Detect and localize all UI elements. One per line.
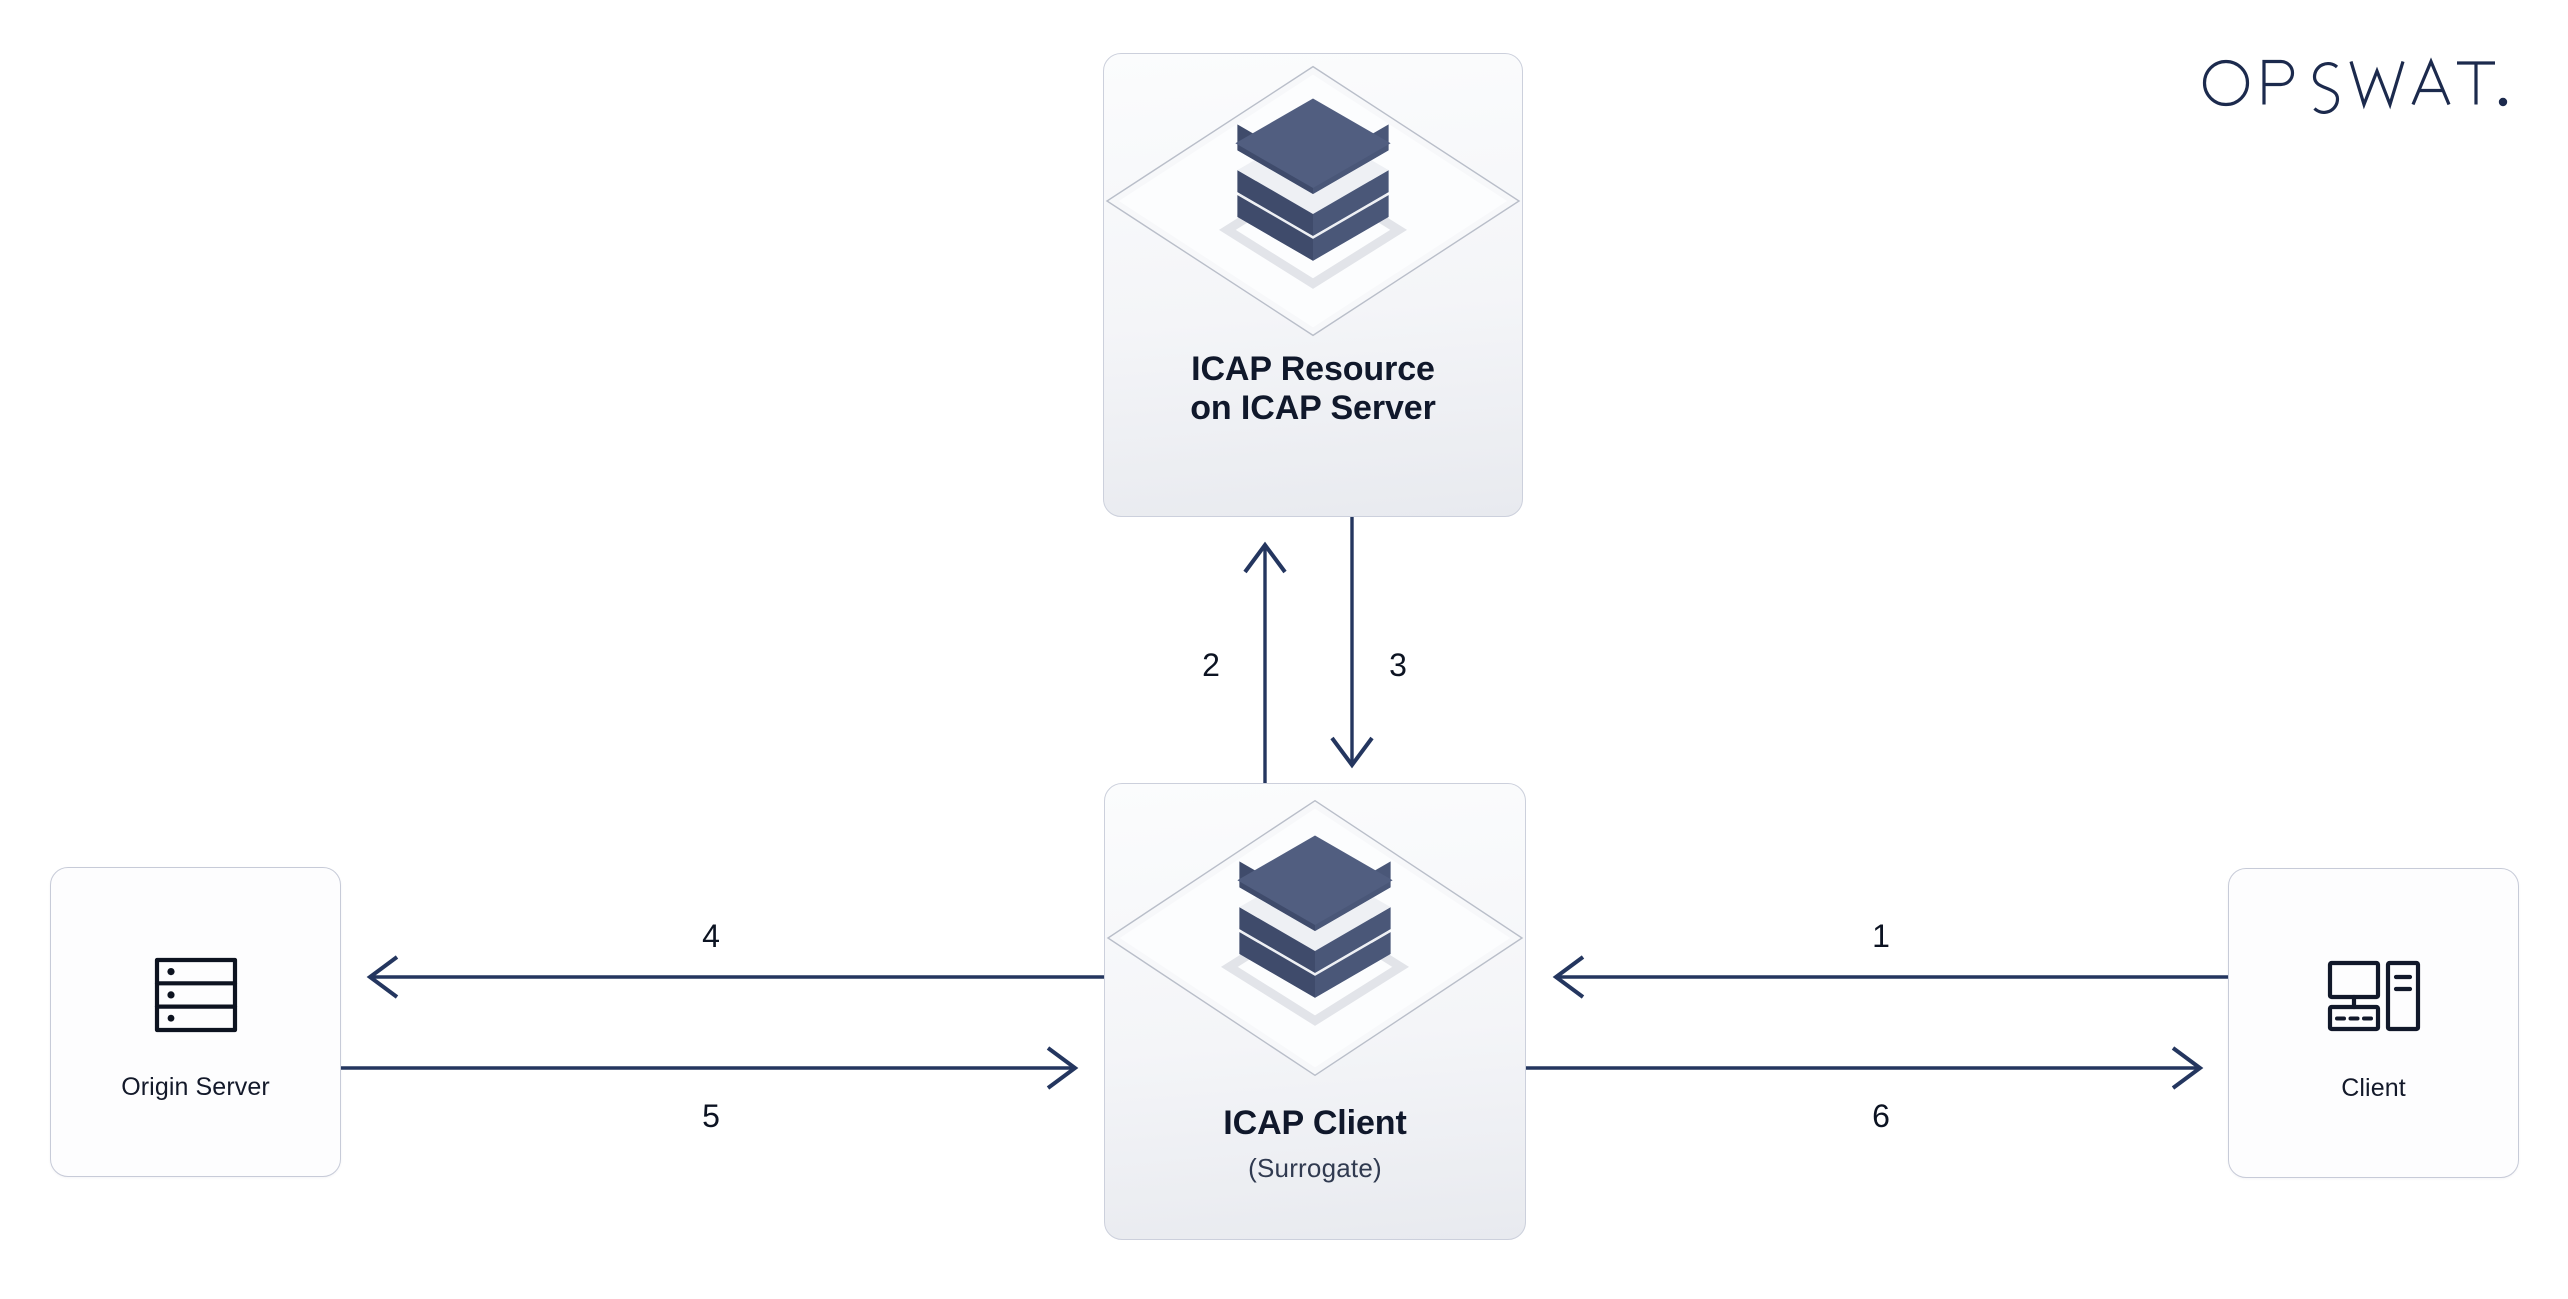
opswat-wordmark-icon [2198, 52, 2508, 114]
arrow-5 [341, 1048, 1075, 1088]
node-client[interactable]: Client [2228, 868, 2519, 1178]
rack-server-icon-wrap [144, 943, 248, 1047]
arrow-2 [1245, 545, 1285, 783]
arrow-label-3: 3 [1368, 647, 1428, 684]
arrow-label-1: 1 [1851, 918, 1911, 955]
arrow-label-6: 6 [1851, 1098, 1911, 1135]
node-origin-server[interactable]: Origin Server [50, 867, 341, 1177]
node-label: Client [2341, 1074, 2406, 1103]
isometric-server-illustration [1104, 56, 1522, 346]
node-label: Origin Server [121, 1073, 270, 1102]
arrow-label-2: 2 [1181, 647, 1241, 684]
node-title: ICAP Client [1223, 1104, 1406, 1143]
arrow-6 [1526, 1048, 2200, 1088]
arrow-label-4: 4 [681, 918, 741, 955]
isometric-server-illustration [1105, 788, 1525, 1088]
node-title-line-1: ICAP Resource [1190, 350, 1436, 389]
isometric-server-icon [1105, 788, 1525, 1088]
node-subtitle: (Surrogate) [1248, 1153, 1382, 1184]
isometric-server-icon [1104, 56, 1522, 346]
arrow-label-5: 5 [681, 1098, 741, 1135]
node-icap-resource-on-icap-server[interactable]: ICAP Resource on ICAP Server [1103, 53, 1523, 517]
arrow-1 [1556, 957, 2228, 997]
rack-server-icon [144, 943, 248, 1047]
arrow-3 [1332, 517, 1372, 765]
desktop-computer-icon-wrap [2322, 944, 2426, 1048]
node-title-line-2: on ICAP Server [1190, 389, 1436, 428]
arrow-4 [370, 957, 1104, 997]
desktop-computer-icon [2322, 944, 2426, 1048]
node-icap-client[interactable]: ICAP Client (Surrogate) [1104, 783, 1526, 1240]
diagram-canvas: ICAP Resource on ICAP Server [0, 0, 2568, 1299]
opswat-logo [2198, 52, 2508, 114]
node-title: ICAP Resource on ICAP Server [1190, 350, 1436, 429]
